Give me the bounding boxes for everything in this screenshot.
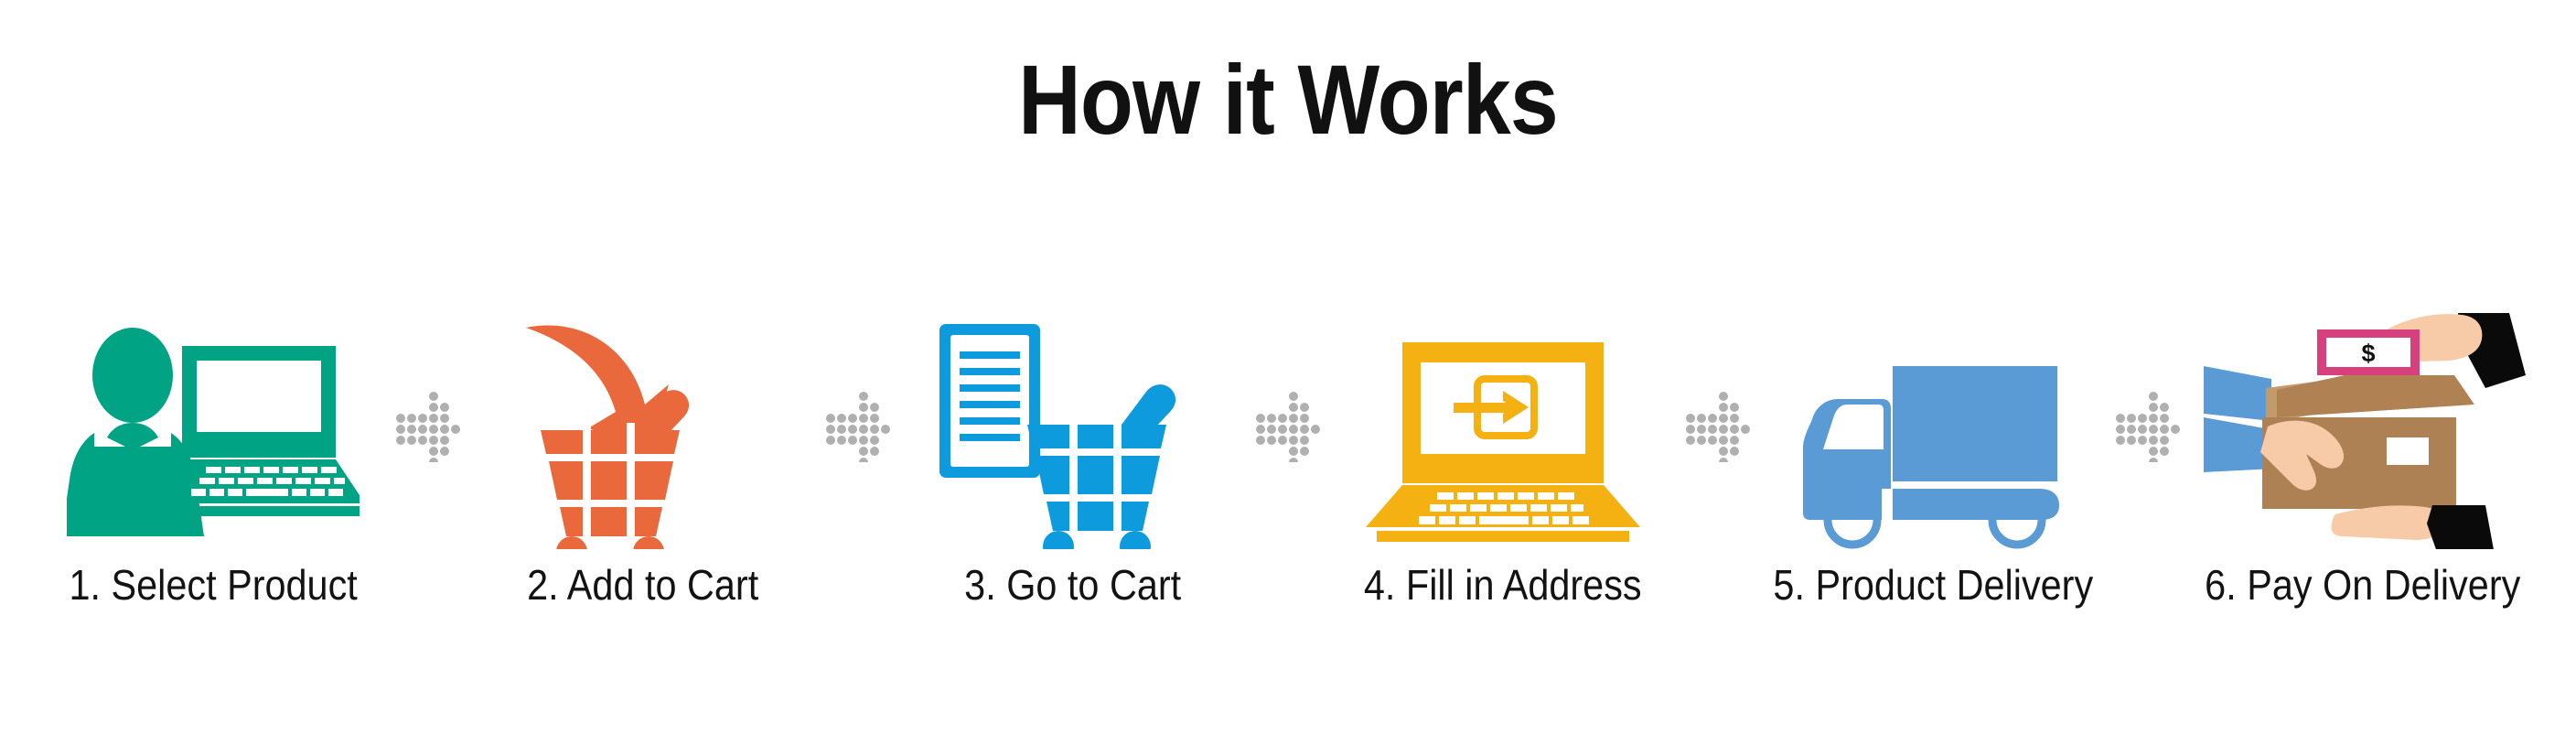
document-with-shopping-cart-icon [936, 320, 1210, 549]
dotted-arrow-right-icon [1251, 389, 1325, 462]
dotted-arrow-right-icon [392, 389, 465, 462]
separator-3 [1249, 302, 1327, 549]
step-select-product[interactable]: 1. Select Product [38, 302, 389, 609]
box-shipping-label-icon [2387, 437, 2429, 465]
page-title: How it Works [155, 48, 2421, 151]
separator-4 [1679, 302, 1757, 549]
step-add-to-cart[interactable]: 2. Add to Cart [467, 302, 819, 609]
step-4-artwork [1327, 302, 1679, 549]
step-pay-on-delivery[interactable]: $ [2187, 302, 2538, 609]
steps-row: 1. Select Product [0, 302, 2576, 668]
separator-2 [819, 302, 897, 549]
step-label-pay-on-delivery: 6. Pay On Delivery [2205, 562, 2520, 609]
step-label-select-product: 1. Select Product [69, 562, 357, 609]
step-label-go-to-cart: 3. Go to Cart [964, 562, 1181, 609]
laptop-with-enter-arrow-icon [1366, 339, 1640, 549]
step-go-to-cart[interactable]: 3. Go to Cart [897, 302, 1249, 609]
step-6-artwork: $ [2187, 302, 2538, 549]
step-2-artwork [467, 302, 819, 549]
lower-hand-icon [2332, 505, 2444, 540]
arrow-into-shopping-cart-icon [515, 320, 771, 549]
how-it-works-infographic: How it Works [0, 0, 2576, 745]
step-label-fill-in-address: 4. Fill in Address [1364, 562, 1642, 609]
banknote-dollar-symbol: $ [2361, 340, 2375, 367]
step-product-delivery[interactable]: 5. Product Delivery [1757, 302, 2109, 609]
step-fill-in-address[interactable]: 4. Fill in Address [1327, 302, 1679, 609]
person-with-laptop-icon [67, 320, 360, 549]
step-label-add-to-cart: 2. Add to Cart [527, 562, 758, 609]
sleeve-lower-icon [2427, 505, 2495, 549]
step-1-artwork [38, 302, 389, 549]
step-label-product-delivery: 5. Product Delivery [1773, 562, 2093, 609]
dotted-arrow-right-icon [1681, 389, 1755, 462]
dotted-arrow-right-icon [2111, 389, 2184, 462]
separator-1 [389, 302, 467, 549]
step-5-artwork [1757, 302, 2109, 549]
step-3-artwork [897, 302, 1249, 549]
separator-5 [2109, 302, 2187, 549]
delivery-truck-icon [1787, 357, 2079, 549]
dotted-arrow-right-icon [821, 389, 895, 462]
hands-exchanging-box-and-cash-icon: $ [2198, 309, 2528, 549]
box-top-icon [2277, 375, 2474, 417]
banknote-icon: $ [2317, 329, 2420, 375]
